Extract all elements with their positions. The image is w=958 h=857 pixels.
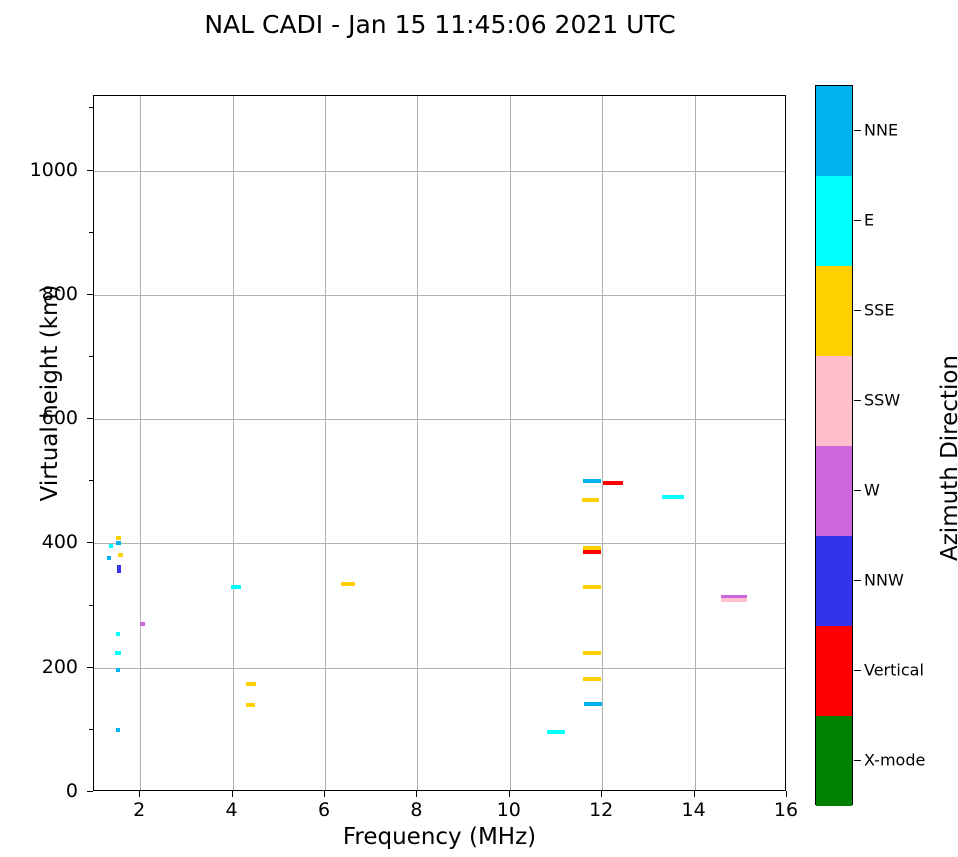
colorbar-segment-x-mode xyxy=(816,716,852,806)
y-axis-tick-label: 1000 xyxy=(8,159,78,181)
x-axis-tick xyxy=(324,791,325,797)
colorbar xyxy=(815,85,853,805)
data-mark xyxy=(118,553,123,557)
colorbar-label-vertical: Vertical xyxy=(864,661,924,680)
data-mark xyxy=(583,677,601,681)
data-mark xyxy=(582,498,600,502)
gridline-vertical xyxy=(140,96,141,790)
gridline-vertical xyxy=(602,96,603,790)
x-axis-tick xyxy=(786,791,787,797)
colorbar-segment-sse xyxy=(816,266,852,356)
data-mark xyxy=(117,569,120,573)
y-axis-minor-tick xyxy=(89,232,93,233)
x-axis-tick-label: 14 xyxy=(682,799,706,821)
figure-canvas: NAL CADI - Jan 15 11:45:06 2021 UTC 2468… xyxy=(0,0,958,857)
colorbar-label-ssw: SSW xyxy=(864,391,900,410)
x-axis-tick-label: 16 xyxy=(774,799,798,821)
data-mark xyxy=(116,541,121,545)
data-mark xyxy=(116,632,121,636)
data-mark xyxy=(231,585,241,589)
y-axis-minor-tick xyxy=(89,107,93,108)
colorbar-tick xyxy=(854,130,861,131)
x-axis-tick-label: 2 xyxy=(133,799,145,821)
y-axis-tick xyxy=(87,667,93,668)
colorbar-title: Azimuth Direction xyxy=(937,298,958,618)
plot-data-layer xyxy=(94,96,785,790)
colorbar-tick xyxy=(854,220,861,221)
colorbar-segment-w xyxy=(816,446,852,536)
data-mark xyxy=(246,703,255,707)
colorbar-tick xyxy=(854,580,861,581)
colorbar-segment-nne xyxy=(816,86,852,176)
data-mark xyxy=(109,544,113,548)
page-title: NAL CADI - Jan 15 11:45:06 2021 UTC xyxy=(0,10,880,39)
gridline-vertical xyxy=(233,96,234,790)
data-mark xyxy=(341,582,356,586)
colorbar-tick xyxy=(854,670,861,671)
colorbar-tick xyxy=(854,760,861,761)
data-mark xyxy=(583,651,601,655)
x-axis-label: Frequency (MHz) xyxy=(93,824,786,850)
gridline-vertical xyxy=(510,96,511,790)
y-axis-tick-label: 200 xyxy=(8,656,78,678)
y-axis-tick xyxy=(87,791,93,792)
colorbar-label-nnw: NNW xyxy=(864,571,904,590)
gridline-horizontal xyxy=(94,668,785,669)
data-mark xyxy=(107,556,111,560)
gridline-vertical xyxy=(325,96,326,790)
x-axis-tick-label: 10 xyxy=(497,799,521,821)
x-axis-tick xyxy=(139,791,140,797)
y-axis-minor-tick xyxy=(89,605,93,606)
y-axis-tick xyxy=(87,170,93,171)
data-mark xyxy=(603,481,622,485)
colorbar-tick xyxy=(854,310,861,311)
x-axis-tick xyxy=(694,791,695,797)
gridline-horizontal xyxy=(94,419,785,420)
y-axis-tick xyxy=(87,542,93,543)
x-axis-tick xyxy=(232,791,233,797)
colorbar-segment-e xyxy=(816,176,852,266)
x-axis-tick xyxy=(509,791,510,797)
y-axis-tick xyxy=(87,294,93,295)
x-axis-tick-label: 6 xyxy=(318,799,330,821)
gridline-horizontal xyxy=(94,295,785,296)
colorbar-label-sse: SSE xyxy=(864,301,894,320)
data-mark xyxy=(583,585,601,589)
y-axis-minor-tick xyxy=(89,480,93,481)
x-axis-tick xyxy=(601,791,602,797)
data-mark xyxy=(115,651,120,655)
data-mark xyxy=(583,479,601,483)
data-mark xyxy=(583,550,601,554)
gridline-horizontal xyxy=(94,171,785,172)
colorbar-segment-ssw xyxy=(816,356,852,446)
y-axis-minor-tick xyxy=(89,729,93,730)
data-mark xyxy=(140,622,145,626)
colorbar-segment-nnw xyxy=(816,536,852,626)
data-mark xyxy=(116,668,121,672)
data-mark xyxy=(662,495,684,499)
data-mark xyxy=(116,536,121,540)
data-mark xyxy=(584,702,602,706)
plot-axes xyxy=(93,95,786,791)
data-mark xyxy=(116,728,121,732)
y-axis-label: Virtual height (km) xyxy=(37,243,63,543)
colorbar-segment-vertical xyxy=(816,626,852,716)
data-mark xyxy=(547,730,565,734)
x-axis-tick-label: 8 xyxy=(410,799,422,821)
gridline-vertical xyxy=(695,96,696,790)
gridline-horizontal xyxy=(94,543,785,544)
colorbar-label-x-mode: X-mode xyxy=(864,751,925,770)
colorbar-label-nne: NNE xyxy=(864,121,898,140)
x-axis-tick-label: 12 xyxy=(589,799,613,821)
y-axis-minor-tick xyxy=(89,356,93,357)
gridline-vertical xyxy=(417,96,418,790)
colorbar-tick xyxy=(854,490,861,491)
data-mark xyxy=(721,598,747,602)
colorbar-label-e: E xyxy=(864,211,874,230)
y-axis-tick-label: 0 xyxy=(8,780,78,802)
colorbar-label-w: W xyxy=(864,481,880,500)
data-mark xyxy=(246,682,256,686)
y-axis-tick xyxy=(87,418,93,419)
x-axis-tick-label: 4 xyxy=(226,799,238,821)
colorbar-tick xyxy=(854,400,861,401)
x-axis-tick xyxy=(416,791,417,797)
